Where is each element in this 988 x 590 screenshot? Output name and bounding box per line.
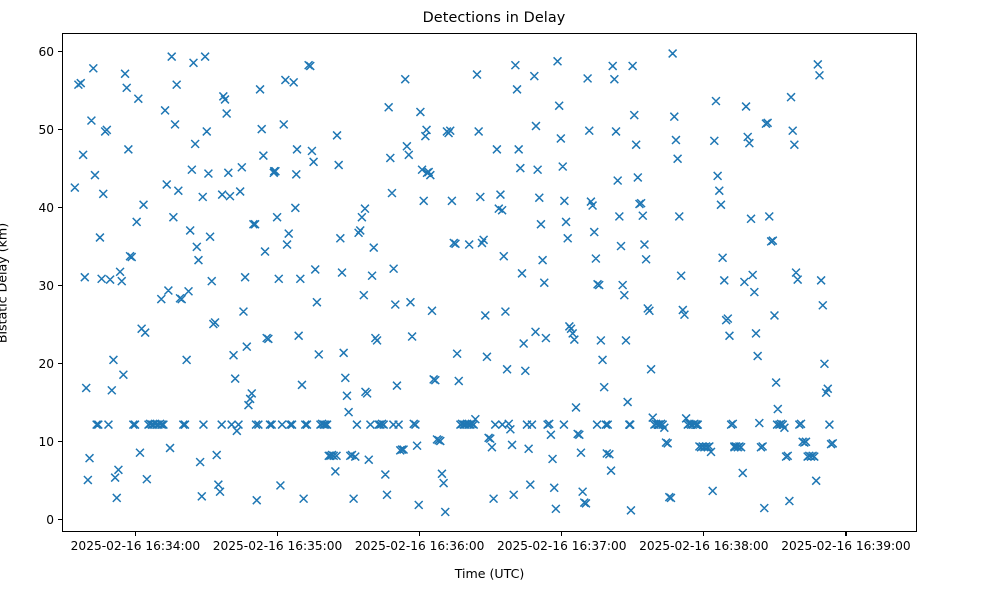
- plot-axes: [62, 33, 917, 532]
- x-tick-mark: [419, 532, 420, 536]
- x-tick-label: 2025-02-16 16:39:00: [781, 539, 910, 553]
- scatter-layer: [63, 34, 917, 532]
- y-tick-mark: [58, 285, 62, 286]
- x-tick-label: 2025-02-16 16:34:00: [71, 539, 200, 553]
- y-tick-mark: [58, 129, 62, 130]
- x-tick-label: 2025-02-16 16:36:00: [355, 539, 484, 553]
- y-axis-label: Bistatic Delay (km): [0, 223, 10, 343]
- x-tick-label: 2025-02-16 16:38:00: [639, 539, 768, 553]
- x-tick-mark: [703, 532, 704, 536]
- y-tick-mark: [58, 51, 62, 52]
- y-tick-mark: [58, 519, 62, 520]
- x-tick-label: 2025-02-16 16:35:00: [213, 539, 342, 553]
- y-tick-label: 0: [20, 513, 54, 527]
- y-tick-label: 50: [20, 123, 54, 137]
- y-tick-mark: [58, 441, 62, 442]
- page-title: Detections in Delay: [0, 10, 988, 26]
- x-tick-label: 2025-02-16 16:37:00: [497, 539, 626, 553]
- x-axis-label: Time (UTC): [62, 566, 917, 581]
- matplotlib-figure: Detections in Delay 2025-02-16 16:34:002…: [0, 0, 988, 590]
- x-tick-mark: [561, 532, 562, 536]
- x-tick-mark: [277, 532, 278, 536]
- y-tick-label: 40: [20, 201, 54, 215]
- y-tick-label: 30: [20, 279, 54, 293]
- y-tick-label: 20: [20, 357, 54, 371]
- x-tick-mark: [135, 532, 136, 536]
- y-tick-mark: [58, 207, 62, 208]
- y-tick-label: 60: [20, 45, 54, 59]
- y-tick-label: 10: [20, 435, 54, 449]
- y-tick-mark: [58, 363, 62, 364]
- x-tick-mark: [845, 532, 846, 536]
